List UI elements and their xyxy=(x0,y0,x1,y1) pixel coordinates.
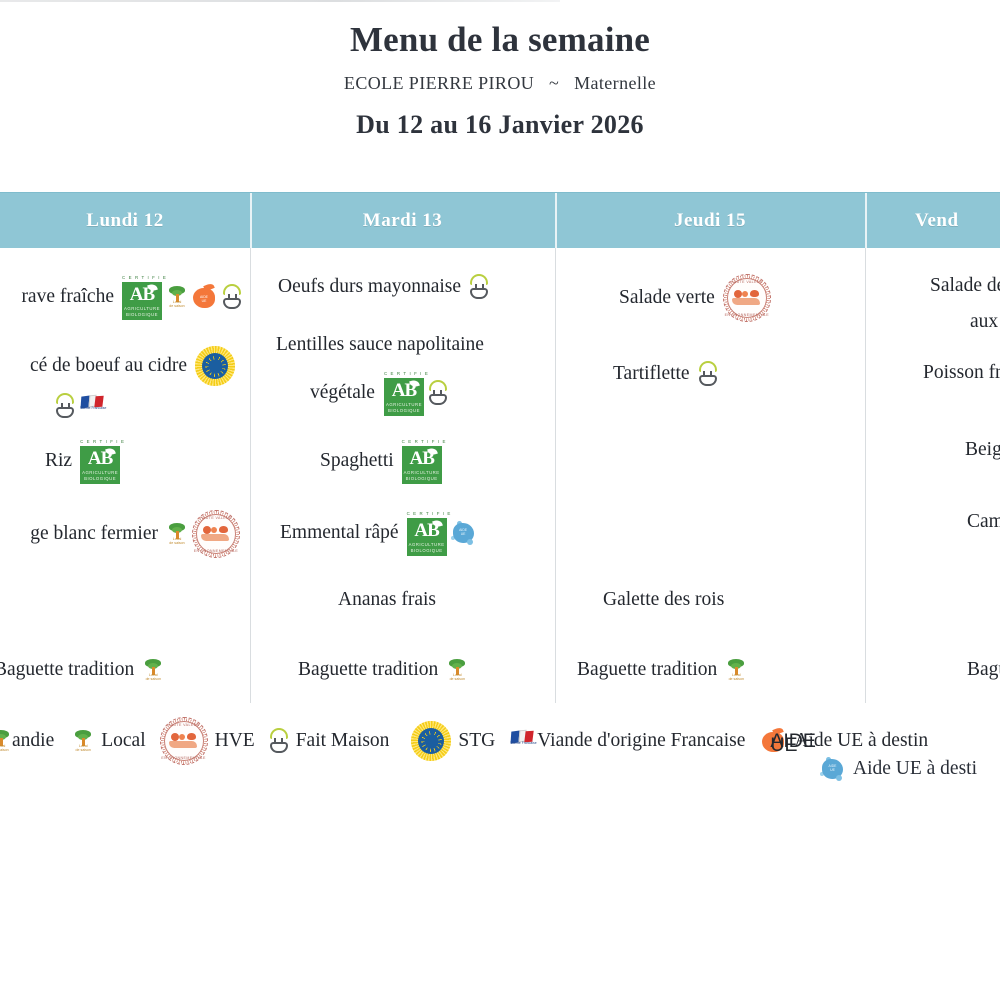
school-level: Maternelle xyxy=(574,73,656,93)
menu-item: aux petit xyxy=(970,310,1000,334)
menu-item: ge blanc fermier Localde saison HAUTE VA… xyxy=(30,510,240,558)
menu-item-icons: Viande Francaise xyxy=(55,393,105,419)
document-header: Menu de la semaine ECOLE PIERRE PIROU ~ … xyxy=(0,0,1000,140)
ab-bio-icon: C E R T I F I E AB AGRICULTUREBIOLOGIQUE xyxy=(407,510,447,556)
legend-item-aide-ue-fruit: AIDEUE Aide UE à destin xyxy=(761,728,928,754)
subtitle-separator: ~ xyxy=(539,73,569,93)
menu-item: Salade verte HAUTE VALEURENVIRONNEMENTAL… xyxy=(619,274,771,322)
table-header-row: Lundi 12 Mardi 13 Jeudi 15 Vend xyxy=(0,192,1000,248)
menu-item: Baguette tradition Localde saison xyxy=(298,658,468,682)
fait-maison-icon xyxy=(222,284,242,310)
menu-item-icons-row: Viande Francaise xyxy=(55,393,105,419)
local-icon: Localde saison xyxy=(72,729,94,753)
local-icon: Localde saison xyxy=(142,658,164,682)
fait-maison-icon xyxy=(469,274,489,300)
menu-item-icons: C E R T I F I E AB AGRICULTUREBIOLOGIQUE xyxy=(384,370,448,416)
local-icon: Localde saison xyxy=(166,285,188,309)
menu-column-vendredi: Salade de pât aux petit Poisson frais s … xyxy=(865,248,1000,703)
school-subtitle: ECOLE PIERRE PIROU ~ Maternelle xyxy=(0,73,1000,94)
stg-icon xyxy=(411,721,451,761)
menu-item: Oeufs durs mayonnaise xyxy=(278,274,489,300)
menu-item: Lentilles sauce napolitaine xyxy=(276,333,484,357)
aide-ue-fruit-icon: AIDEUE xyxy=(761,728,787,754)
aide-ue-fruit-icon: AIDEUE xyxy=(192,284,218,310)
page-title: Menu de la semaine xyxy=(0,22,1000,59)
legend-label: HVE xyxy=(215,730,255,752)
menu-item-icons: C E R T I F I E AB AGRICULTUREBIOLOGIQUE… xyxy=(122,274,242,320)
legend: Localde saison andie Localde saison Loca… xyxy=(0,718,1000,764)
ab-bio-icon: C E R T I F I E AB AGRICULTUREBIOLOGIQUE xyxy=(122,274,162,320)
column-header-vendredi: Vend xyxy=(865,193,1000,248)
legend-label: STG xyxy=(458,730,495,752)
legend-item-stg: STG xyxy=(411,721,495,761)
menu-column-jeudi: Salade verte HAUTE VALEURENVIRONNEMENTAL… xyxy=(555,248,865,703)
legend-item-local: Localde saison Local xyxy=(72,729,145,753)
menu-item: végétale C E R T I F I E AB AGRICULTUREB… xyxy=(310,370,448,416)
menu-item-icons: C E R T I F I E AB AGRICULTUREBIOLOGIQUE xyxy=(80,438,120,484)
menu-column-mardi: Oeufs durs mayonnaise Lentilles sauce na… xyxy=(250,248,555,703)
menu-item: Emmental râpé C E R T I F I E AB AGRICUL… xyxy=(280,510,477,556)
school-name: ECOLE PIERRE PIROU xyxy=(344,73,534,93)
menu-item: Ananas frais xyxy=(338,588,436,612)
local-icon: Localde saison xyxy=(725,658,747,682)
menu-item: Salade de pât xyxy=(930,274,1000,298)
menu-table: Lundi 12 Mardi 13 Jeudi 15 Vend rave fra… xyxy=(0,192,1000,703)
menu-item-icons: Localde saison xyxy=(725,658,747,682)
legend-item-aide-ue-lait: AIDEUE Aide UE à desti xyxy=(820,756,977,782)
viande-francaise-icon: Viande Francaise xyxy=(79,395,105,417)
menu-item: rave fraîche C E R T I F I E AB AGRICULT… xyxy=(21,274,242,320)
menu-item: Baguette tradition Localde saison xyxy=(0,658,164,682)
local-icon: Localde saison xyxy=(446,658,468,682)
legend-item-viande-francaise: Viande Francaise Viande d'origine Franca… xyxy=(509,730,745,752)
legend-label: andie xyxy=(12,730,54,752)
viande-francaise-icon: Viande Francaise xyxy=(509,730,535,752)
menu-item-icons: HAUTE VALEURENVIRONNEMENTALE xyxy=(723,274,771,322)
menu-item-icons xyxy=(698,361,718,387)
menu-item-icons: Localde saison HAUTE VALEURENVIRONNEMENT… xyxy=(166,510,240,558)
ab-bio-icon: C E R T I F I E AB AGRICULTUREBIOLOGIQUE xyxy=(384,370,424,416)
legend-label: Fait Maison xyxy=(296,730,390,752)
menu-item: Tartiflette xyxy=(613,361,718,387)
aide-ue-lait-icon: AIDEUE xyxy=(820,756,846,782)
legend-label: Viande d'origine Francaise xyxy=(537,730,745,752)
legend-item-hve: HAUTE VALEURENVIRONNEMENTALE HVE xyxy=(160,717,255,765)
hve-icon: HAUTE VALEURENVIRONNEMENTALE xyxy=(160,717,208,765)
legend-item-fait-maison: Fait Maison xyxy=(269,728,390,754)
column-header-jeudi: Jeudi 15 xyxy=(555,193,865,248)
menu-item-icons xyxy=(195,346,235,386)
ab-bio-icon: C E R T I F I E AB AGRICULTUREBIOLOGIQUE xyxy=(80,438,120,484)
legend-label: Local xyxy=(101,730,145,752)
menu-item: Riz C E R T I F I E AB AGRICULTUREBIOLOG… xyxy=(45,438,120,484)
menu-item: Galette des rois xyxy=(603,588,724,612)
fait-maison-icon xyxy=(698,361,718,387)
stg-icon xyxy=(195,346,235,386)
scan-edge-line xyxy=(0,0,560,2)
menu-item: Camemb xyxy=(967,510,1000,534)
menu-item-icons: Localde saison xyxy=(446,658,468,682)
fait-maison-icon xyxy=(269,728,289,754)
legend-item-normandie: Localde saison andie xyxy=(0,729,54,753)
menu-item: Baguette tradition Localde saison xyxy=(577,658,747,682)
menu-item: Poisson frais s xyxy=(923,361,1000,385)
normandie-icon: Localde saison xyxy=(0,729,12,753)
menu-column-lundi: rave fraîche C E R T I F I E AB AGRICULT… xyxy=(0,248,250,703)
menu-item-icons: C E R T I F I E AB AGRICULTUREBIOLOGIQUE xyxy=(402,438,442,484)
aide-ue-lait-icon: AIDEUE xyxy=(451,520,477,546)
date-range: Du 12 au 16 Janvier 2026 xyxy=(0,110,1000,140)
legend-label: Aide UE à desti xyxy=(853,758,977,780)
menu-item-icons: C E R T I F I E AB AGRICULTUREBIOLOGIQUE… xyxy=(407,510,477,556)
hve-icon: HAUTE VALEURENVIRONNEMENTALE xyxy=(192,510,240,558)
fait-maison-icon xyxy=(428,380,448,406)
menu-item: Baguette xyxy=(967,658,1000,682)
menu-item: cé de boeuf au cidre xyxy=(30,346,235,386)
column-header-mardi: Mardi 13 xyxy=(250,193,555,248)
column-header-lundi: Lundi 12 xyxy=(0,193,250,248)
table-body: rave fraîche C E R T I F I E AB AGRICULT… xyxy=(0,248,1000,703)
fait-maison-icon xyxy=(55,393,75,419)
menu-item: Beignets xyxy=(965,438,1000,462)
local-icon: Localde saison xyxy=(166,522,188,546)
menu-item-icons xyxy=(469,274,489,300)
menu-item: Spaghetti C E R T I F I E AB AGRICULTURE… xyxy=(320,438,442,484)
hve-icon: HAUTE VALEURENVIRONNEMENTALE xyxy=(723,274,771,322)
ab-bio-icon: C E R T I F I E AB AGRICULTUREBIOLOGIQUE xyxy=(402,438,442,484)
menu-item-icons: Localde saison xyxy=(142,658,164,682)
